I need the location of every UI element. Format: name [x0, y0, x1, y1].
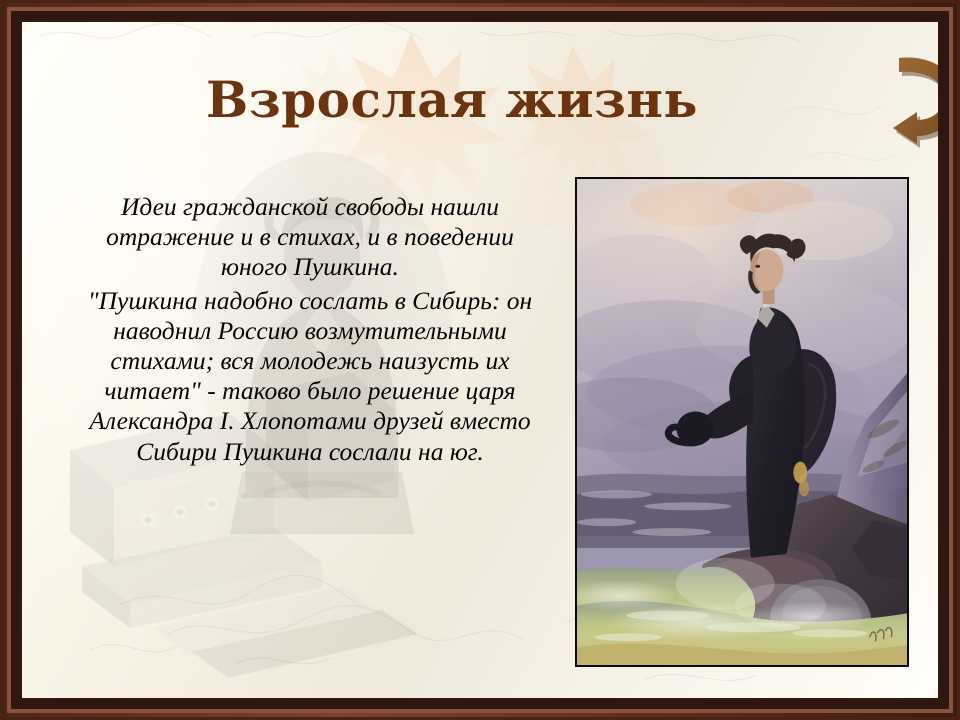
paragraph-2: "Пушкина надобно сослать в Сибирь: он на… [74, 286, 546, 467]
paragraph-1: Идеи гражданской свободы нашли отражение… [74, 192, 546, 283]
pushkin-farewell-to-the-sea-artwork [577, 179, 907, 665]
slide-frame-outer: Взрослая жизнь [0, 0, 960, 720]
body-text: Идеи гражданской свободы нашли отражение… [74, 192, 546, 469]
curved-arrow-icon [877, 44, 940, 148]
slide-frame-inner: Взрослая жизнь [20, 20, 940, 700]
slide: Взрослая жизнь [0, 0, 960, 720]
illustration-image [575, 177, 909, 667]
slide-frame-middle: Взрослая жизнь [7, 7, 953, 713]
page-title: Взрослая жизнь [82, 74, 822, 126]
